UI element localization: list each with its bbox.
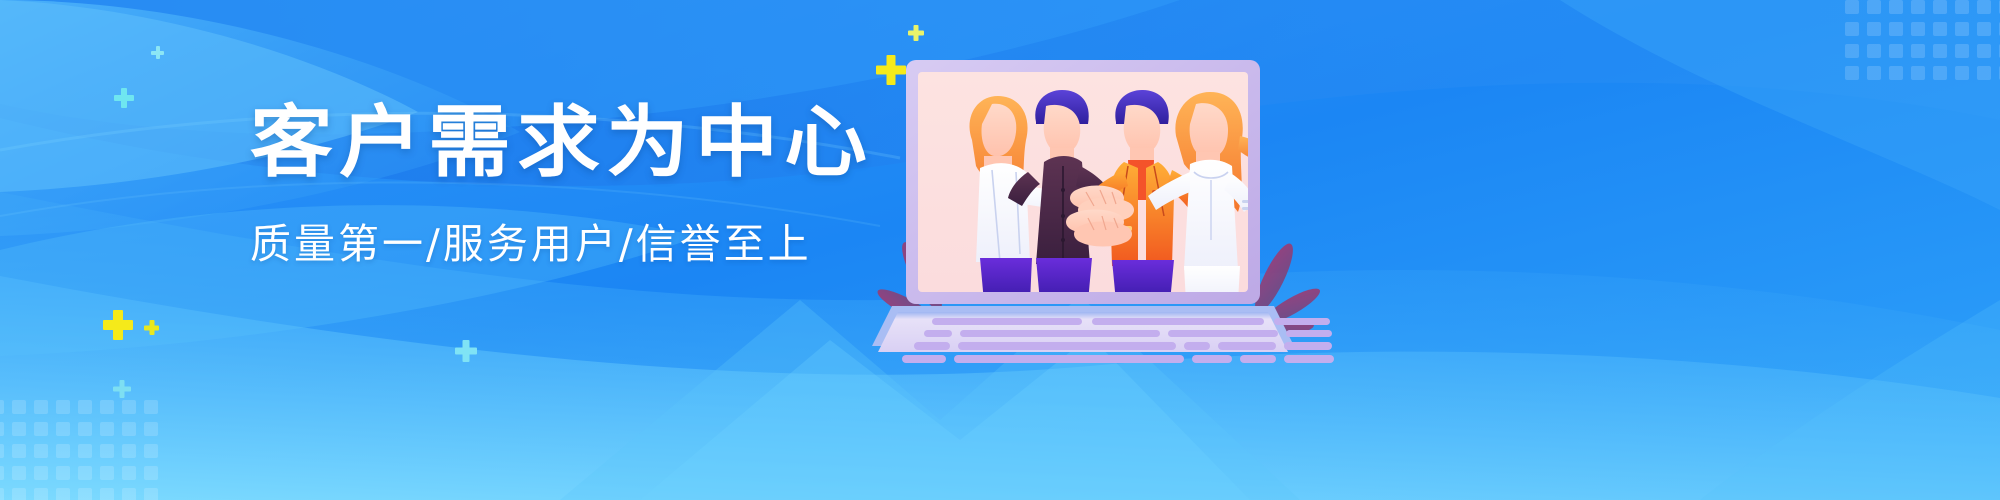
dot-grid-cell [144,422,158,436]
dot-grid-cell [1845,0,1859,14]
dot-grid-cell [1845,22,1859,36]
dot-grid-cell [122,422,136,436]
plus-cyan-bottom-icon [455,340,477,362]
dot-grid-cell [1933,0,1947,14]
dot-grid-cell [100,444,114,458]
dot-grid-cell [1845,66,1859,80]
plus-cyan-small-mid-icon [151,46,164,59]
laptop-teamwork-illustration [880,40,1320,370]
dot-grid-cell [1933,66,1947,80]
dot-grid-cell [1889,22,1903,36]
dot-grid-cell [56,400,70,414]
dot-grid-cell [1933,44,1947,58]
dot-grid-cell [12,400,26,414]
dot-grid-cell [1845,44,1859,58]
page-subtitle: 质量第一/服务用户/信誉至上 [250,210,910,270]
dot-grid-cell [56,444,70,458]
plus-yellow-small-left-icon [144,320,159,335]
dot-grid-cell [122,400,136,414]
dot-grid-cell [1955,0,1969,14]
dot-grid-cell [1977,22,1991,36]
dot-grid-cell [0,488,4,500]
dot-grid-cell [78,400,92,414]
dot-grid-cell [12,488,26,500]
dot-grid-cell [34,466,48,480]
dot-grid-cell [100,488,114,500]
dot-grid-cell [1867,44,1881,58]
dot-grid-cell [0,422,4,436]
dot-grid-cell [1933,22,1947,36]
dot-grid-cell [1955,44,1969,58]
plus-yellow-large-left-icon [103,310,133,340]
dot-grid-cell [144,444,158,458]
dot-grid-cell [100,422,114,436]
dot-grid-bottom-left [0,400,166,500]
dot-grid-cell [122,466,136,480]
dot-grid-cell [56,466,70,480]
dot-grid-cell [1911,44,1925,58]
dot-grid-cell [1867,22,1881,36]
dot-grid-cell [122,488,136,500]
team-people-group [970,90,1280,304]
dot-grid-cell [144,488,158,500]
dot-grid-cell [0,400,4,414]
dot-grid-cell [122,444,136,458]
plus-yellow-small-top-icon [908,25,924,41]
dot-grid-cell [1889,0,1903,14]
dot-grid-cell [56,488,70,500]
dot-grid-cell [12,422,26,436]
dot-grid-cell [78,488,92,500]
dot-grid-cell [1867,0,1881,14]
dot-grid-cell [78,444,92,458]
dot-grid-cell [0,444,4,458]
plus-cyan-left-icon [114,88,134,108]
dot-grid-top-right [1845,0,2000,88]
dot-grid-cell [144,400,158,414]
dot-grid-cell [34,422,48,436]
headline-block: 客户需求为中心 质量第一/服务用户/信誉至上 [250,104,910,270]
dot-grid-cell [1867,66,1881,80]
dot-grid-cell [34,400,48,414]
dot-grid-cell [1977,66,1991,80]
dot-grid-cell [1911,0,1925,14]
dot-grid-cell [1889,66,1903,80]
dot-grid-cell [12,444,26,458]
laptop-base [872,306,1334,363]
dot-grid-cell [0,466,4,480]
dot-grid-cell [1955,66,1969,80]
dot-grid-cell [100,466,114,480]
dot-grid-cell [100,400,114,414]
dot-grid-cell [1977,0,1991,14]
dot-grid-cell [12,466,26,480]
page-title: 客户需求为中心 [250,104,950,184]
dot-grid-cell [1889,44,1903,58]
dot-grid-cell [34,444,48,458]
dot-grid-cell [1911,22,1925,36]
dot-grid-cell [78,422,92,436]
plus-cyan-upper-left-icon [113,380,131,398]
dot-grid-cell [1977,44,1991,58]
dot-grid-cell [144,466,158,480]
dot-grid-cell [1911,66,1925,80]
dot-grid-cell [1955,22,1969,36]
dot-grid-cell [78,466,92,480]
dot-grid-cell [34,488,48,500]
promo-banner: 客户需求为中心 质量第一/服务用户/信誉至上 [0,0,2000,500]
dot-grid-cell [56,422,70,436]
